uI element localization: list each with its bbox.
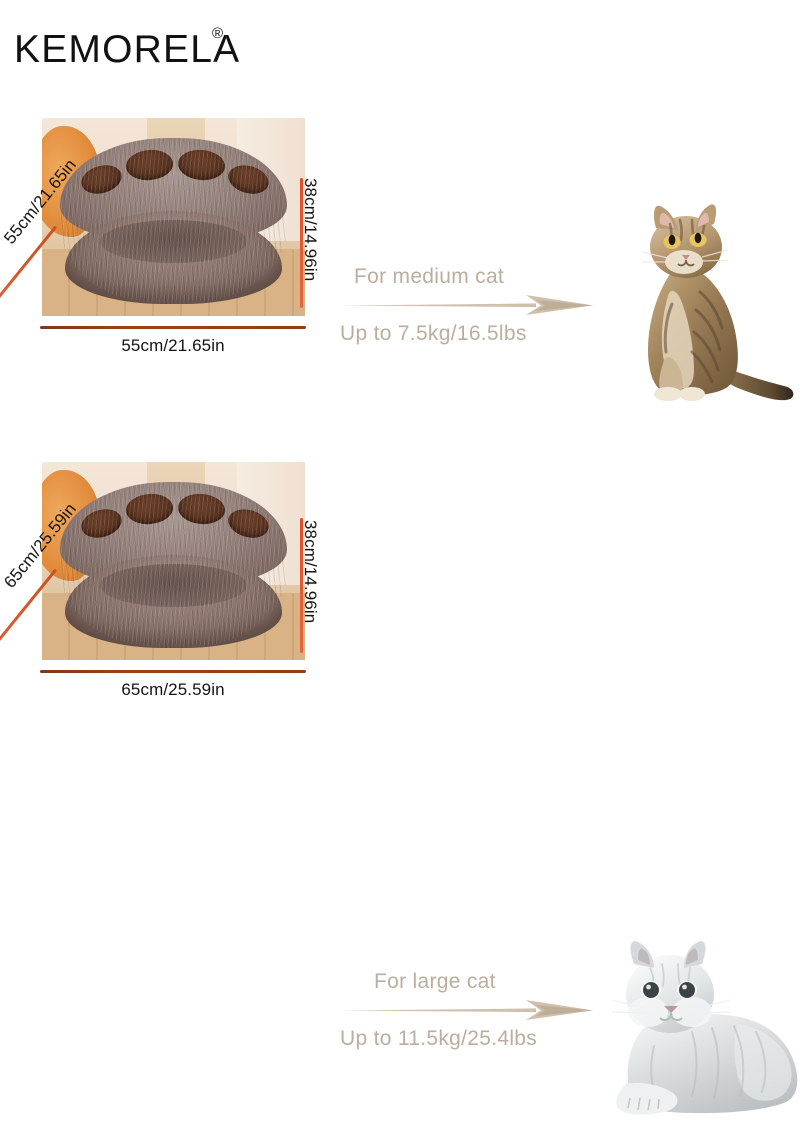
product-photo-medium[interactable] (42, 118, 305, 316)
pet-bed-illustration (60, 138, 286, 304)
callout-bottom-text-medium: Up to 7.5kg/16.5lbs (340, 322, 630, 345)
product-photo-frame (42, 118, 305, 316)
callout-large: For large cat Up to 11.5kg/25.4lbs (340, 970, 630, 1050)
dimension-label-horizontal-medium: 55cm/21.65in (40, 336, 306, 356)
brand-wordmark: KEMORELA (14, 30, 240, 69)
dimension-label-vertical-medium: 38cm/14.96in (300, 178, 320, 281)
dimension-label-vertical-large: 38cm/14.96in (300, 520, 320, 623)
paw-toe-pad (78, 161, 125, 198)
callout-bottom-text-large: Up to 11.5kg/25.4lbs (340, 1027, 630, 1050)
paw-toe-pad (225, 161, 272, 198)
paw-toe-pad (177, 492, 227, 526)
paw-toe-pad (125, 148, 175, 182)
callout-top-text-medium: For medium cat (354, 265, 630, 288)
product-photo-large[interactable] (42, 462, 305, 660)
paw-toe-pad (177, 148, 227, 182)
lying-british-shorthair-cat-image (588, 932, 800, 1132)
product-section-medium: 55cm/21.65in 38cm/14.96in 55cm/21.65in F… (0, 100, 800, 370)
sitting-tabby-cat-image (608, 200, 798, 415)
brand-header: KEMORELA ® (14, 18, 374, 80)
product-photo-frame (42, 462, 305, 660)
right-arrow-icon (340, 294, 595, 316)
pet-bed-illustration (60, 482, 286, 648)
dimension-line-horizontal-medium (40, 326, 306, 329)
product-section-large: 65cm/25.59in 38cm/14.96in 65cm/25.59in F… (0, 440, 800, 715)
paw-toe-pad (225, 505, 272, 542)
registered-trademark-icon: ® (212, 26, 223, 41)
paw-toe-pad (78, 505, 125, 542)
callout-medium: For medium cat Up to 7.5kg/16.5lbs (340, 265, 630, 345)
paw-toe-pad (125, 492, 175, 526)
dimension-label-horizontal-large: 65cm/25.59in (40, 680, 306, 700)
dimension-line-horizontal-large (40, 670, 306, 673)
right-arrow-icon (340, 999, 595, 1021)
